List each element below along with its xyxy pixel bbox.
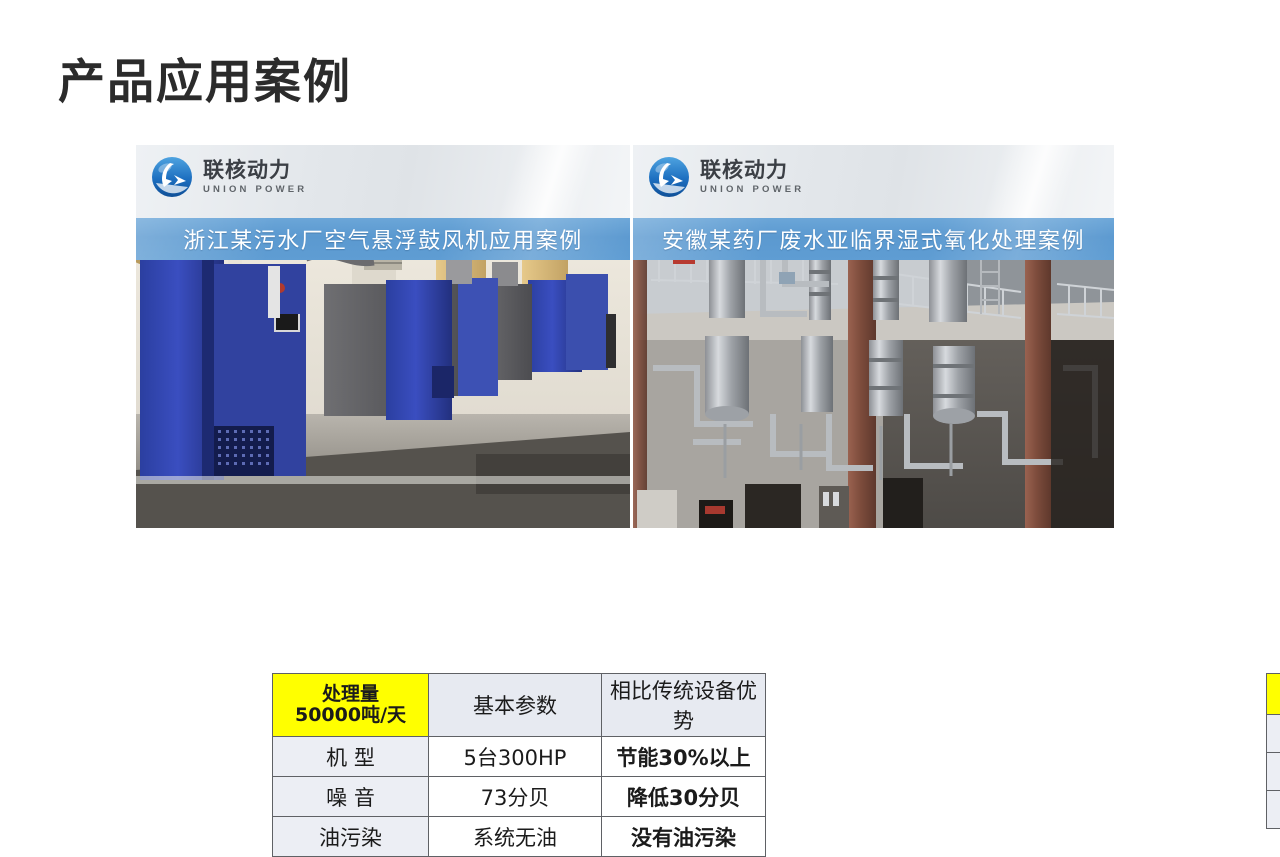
row-label-effluent: 出水氧化液 (1267, 752, 1280, 790)
case-banner-left: 浙江某污水厂空气悬浮鼓风机应用案例 (136, 218, 630, 260)
blower-room-illustration (136, 218, 630, 528)
table-row-header: 处理量 50000吨/天 基本参数 相比传统设备优势 (273, 674, 766, 737)
brand-name-en: UNION POWER (700, 185, 804, 195)
case-panel-left: 联核动力 UNION POWER 浙江某污水厂空气悬浮鼓风机应用案例 处理量 5… (136, 145, 630, 528)
row-param-oil: 系统无油 (429, 817, 602, 857)
row-label-influent: 进水母液 (1267, 714, 1280, 752)
wet-oxidation-plant-illustration (633, 218, 1114, 528)
spec-table-left: 处理量 50000吨/天 基本参数 相比传统设备优势 机 型 5台300HP 节… (272, 673, 766, 857)
table-row-header: 处理量 2000吨/天 PH COD 氨氮 总磷 正磷 (1267, 674, 1280, 715)
photo-image-plant (633, 218, 1114, 528)
row-advantage-model: 节能30%以上 (602, 737, 766, 777)
brand-bar-right: 联核动力 UNION POWER (633, 145, 1114, 218)
table-row: 出水氧化液 5.49 3650 1954 11500 (1267, 752, 1280, 790)
row-label-model: 机 型 (273, 737, 429, 777)
case-banner-text-left: 浙江某污水厂空气悬浮鼓风机应用案例 (183, 223, 583, 255)
results-table-right: 处理量 2000吨/天 PH COD 氨氮 总磷 正磷 进水母液 5 48600… (1266, 673, 1280, 829)
case-photo-right: 联核动力 UNION POWER 安徽某药厂废水亚临界湿式氧化处理案例 (633, 145, 1114, 528)
row-param-model: 5台300HP (429, 737, 602, 777)
table-row: 噪 音 73分贝 降低30分贝 (273, 777, 766, 817)
table-row: 进水母液 5 48600 10860 12068 180 (1267, 714, 1280, 752)
row-label-oil: 油污染 (273, 817, 429, 857)
case-panel-right: 联核动力 UNION POWER 安徽某药厂废水亚临界湿式氧化处理案例 处理量 … (633, 145, 1114, 528)
row-label-removal-rate: 去除率 (1267, 790, 1280, 828)
brand-bar-left: 联核动力 UNION POWER (136, 145, 630, 218)
row-advantage-oil: 没有油污染 (602, 817, 766, 857)
case-banner-text-right: 安徽某药厂废水亚临界湿式氧化处理案例 (662, 223, 1085, 255)
brand-text-right: 联核动力 UNION POWER (700, 160, 804, 195)
brand-name-en: UNION POWER (203, 185, 307, 195)
throughput-header-right: 处理量 2000吨/天 (1267, 674, 1280, 715)
throughput-header-line2: 2000吨/天 (1267, 694, 1280, 712)
table-row: 油污染 系统无油 没有油污染 (273, 817, 766, 857)
table-row: 机 型 5台300HP 节能30%以上 (273, 737, 766, 777)
throughput-header-line1: 处理量 (1267, 676, 1280, 694)
throughput-header-line1: 处理量 (273, 684, 428, 705)
row-label-noise: 噪 音 (273, 777, 429, 817)
union-power-globe-icon (150, 155, 194, 199)
brand-name-cn: 联核动力 (203, 160, 307, 181)
throughput-header-line2: 50000吨/天 (273, 705, 428, 726)
brand-text-left: 联核动力 UNION POWER (203, 160, 307, 195)
brand-logo-left: 联核动力 UNION POWER (150, 155, 307, 199)
brand-logo-right: 联核动力 UNION POWER (647, 155, 804, 199)
union-power-globe-icon (647, 155, 691, 199)
page-title: 产品应用案例 (58, 56, 352, 108)
photo-image-blowers (136, 218, 630, 528)
throughput-header-left: 处理量 50000吨/天 (273, 674, 429, 737)
table-row: 去除率 92.49% 82 % 95.22% (1267, 790, 1280, 828)
row-advantage-noise: 降低30分贝 (602, 777, 766, 817)
column-header-params: 基本参数 (429, 674, 602, 737)
case-photo-left: 联核动力 UNION POWER 浙江某污水厂空气悬浮鼓风机应用案例 (136, 145, 630, 528)
row-param-noise: 73分贝 (429, 777, 602, 817)
brand-name-cn: 联核动力 (700, 160, 804, 181)
column-header-advantage: 相比传统设备优势 (602, 674, 766, 737)
case-banner-right: 安徽某药厂废水亚临界湿式氧化处理案例 (633, 218, 1114, 260)
